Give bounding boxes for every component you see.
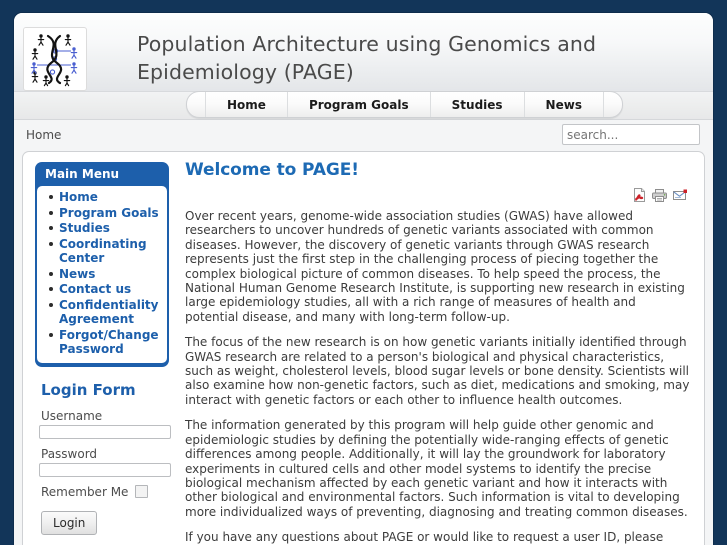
remember-me-label: Remember Me	[41, 485, 128, 499]
username-label: Username	[41, 409, 179, 423]
sidebar-item-studies[interactable]: Studies	[59, 221, 163, 236]
article-closing: If you have any questions about PAGE or …	[185, 530, 690, 545]
article-title: Welcome to PAGE!	[185, 160, 690, 180]
main-menu-list: Home Program Goals Studies Coordinating …	[37, 190, 167, 357]
sidebar-item-home[interactable]: Home	[59, 190, 163, 205]
pdf-icon[interactable]	[633, 188, 646, 202]
sidebar: Main Menu Home Program Goals Studies Coo…	[23, 152, 171, 535]
login-button[interactable]: Login	[41, 511, 97, 535]
remember-me-row: Remember Me	[41, 485, 179, 499]
sidebar-item-news[interactable]: News	[59, 267, 163, 282]
main-menu-title: Main Menu	[35, 162, 169, 186]
nav-program-goals[interactable]: Program Goals	[288, 92, 431, 117]
password-label: Password	[41, 447, 179, 461]
login-form: Login Form Username Password Remember Me…	[35, 367, 179, 535]
nav-home[interactable]: Home	[205, 92, 288, 117]
print-icon[interactable]	[652, 188, 667, 202]
site-header: Population Architecture using Genomics a…	[14, 13, 713, 92]
password-field[interactable]	[39, 463, 171, 477]
breadcrumb-row: Home	[14, 120, 713, 152]
closing-lead: If you have any questions about PAGE or …	[185, 530, 663, 544]
search-input[interactable]	[562, 124, 700, 145]
page-frame: Population Architecture using Genomics a…	[14, 13, 713, 545]
email-icon[interactable]	[673, 188, 688, 202]
article-actions	[185, 188, 688, 202]
sidebar-item-program-goals[interactable]: Program Goals	[59, 206, 163, 221]
nav-news[interactable]: News	[525, 92, 604, 117]
article-paragraph-2: The focus of the new research is on how …	[185, 335, 690, 407]
article: Welcome to PAGE!	[171, 152, 704, 545]
logo-svg	[24, 28, 84, 88]
breadcrumb: Home	[26, 128, 61, 142]
remember-me-checkbox[interactable]	[135, 485, 148, 498]
sidebar-item-coordinating-center[interactable]: Coordinating Center	[59, 237, 163, 266]
main-menu-body: Home Program Goals Studies Coordinating …	[37, 186, 167, 363]
content-panel: Main Menu Home Program Goals Studies Coo…	[22, 151, 705, 545]
sidebar-item-contact-us[interactable]: Contact us	[59, 282, 163, 297]
main-menu-module: Main Menu Home Program Goals Studies Coo…	[35, 162, 169, 367]
login-form-heading: Login Form	[41, 381, 179, 399]
article-paragraph-1: Over recent years, genome-wide associati…	[185, 209, 690, 324]
sidebar-item-forgot-change-password[interactable]: Forgot/Change Password	[59, 328, 163, 357]
page-title: Population Architecture using Genomics a…	[137, 30, 697, 86]
dna-people-logo-icon	[23, 27, 87, 91]
username-field[interactable]	[39, 425, 171, 439]
nav-studies[interactable]: Studies	[431, 92, 525, 117]
sidebar-item-confidentiality-agreement[interactable]: Confidentiality Agreement	[59, 298, 163, 327]
main-nav-pill: Home Program Goals Studies News	[186, 91, 623, 118]
main-nav-bar: Home Program Goals Studies News	[14, 92, 713, 120]
article-paragraph-3: The information generated by this progra…	[185, 418, 690, 519]
